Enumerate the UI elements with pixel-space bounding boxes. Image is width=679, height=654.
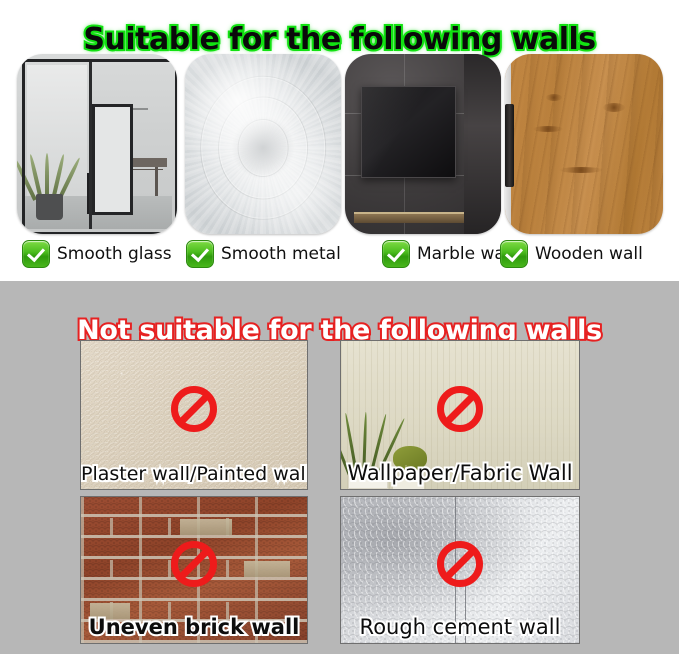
tile-smooth-glass bbox=[17, 54, 177, 234]
wood-knot bbox=[603, 103, 625, 112]
suitable-title: Suitable for the following walls bbox=[0, 22, 679, 57]
label-text: Smooth metal bbox=[221, 244, 341, 264]
metal-sheen bbox=[185, 54, 341, 234]
tile-marble-wall bbox=[345, 54, 501, 234]
panel-caption: Plaster wall/Painted wall bbox=[81, 463, 307, 485]
glass-frame bbox=[22, 59, 177, 234]
panel-plaster-wall: Plaster wall/Painted wall bbox=[80, 340, 308, 490]
suitable-section: Suitable for the following walls bbox=[0, 0, 679, 281]
prohibition-icon bbox=[171, 541, 217, 587]
wood-knot bbox=[559, 167, 603, 173]
panel-cement-wall: Rough cement wall bbox=[340, 496, 580, 644]
marble-shelf bbox=[354, 214, 463, 223]
panel-caption: Wallpaper/Fabric Wall bbox=[341, 461, 579, 485]
label-text: Wooden wall bbox=[535, 244, 643, 264]
brick-pale bbox=[244, 561, 290, 577]
label-smooth-glass: Smooth glass bbox=[22, 238, 172, 270]
wood-knot bbox=[533, 126, 563, 132]
check-icon bbox=[22, 240, 50, 268]
check-icon bbox=[382, 240, 410, 268]
tile-wooden-wall bbox=[505, 54, 663, 234]
suitable-label-row: Smooth glass Smooth metal Marble wall Wo… bbox=[0, 238, 679, 276]
label-smooth-metal: Smooth metal bbox=[186, 238, 341, 270]
metal-wall-image bbox=[185, 54, 341, 234]
label-text: Smooth glass bbox=[57, 244, 172, 264]
tile-smooth-metal bbox=[185, 54, 341, 234]
marble-wall-image bbox=[345, 54, 501, 234]
wooden-wall-image bbox=[505, 54, 663, 234]
panel-caption: Uneven brick wall bbox=[81, 615, 307, 639]
marble-side-cabinet bbox=[464, 54, 501, 234]
suitable-image-row bbox=[0, 54, 679, 234]
prohibition-icon bbox=[437, 541, 483, 587]
glass-wall-image bbox=[17, 54, 177, 234]
check-icon bbox=[500, 240, 528, 268]
marble-light-strip bbox=[354, 212, 463, 214]
brick-course bbox=[80, 518, 278, 536]
check-icon bbox=[186, 240, 214, 268]
prohibition-icon bbox=[171, 386, 217, 432]
panel-caption: Rough cement wall bbox=[341, 615, 579, 639]
label-marble-wall: Marble wall bbox=[382, 238, 514, 270]
prohibition-icon bbox=[437, 386, 483, 432]
wall-mounted-tv bbox=[361, 86, 457, 178]
panel-wallpaper-wall: Wallpaper/Fabric Wall bbox=[340, 340, 580, 490]
wood-knot bbox=[546, 94, 562, 101]
label-wooden-wall: Wooden wall bbox=[500, 238, 643, 270]
brick-pale bbox=[180, 519, 232, 535]
unsuitable-section: Not suitable for the following walls Pla… bbox=[0, 281, 679, 654]
wood-handle bbox=[505, 104, 514, 187]
panel-brick-wall: Uneven brick wall bbox=[80, 496, 308, 644]
tv-reflection bbox=[362, 87, 456, 177]
